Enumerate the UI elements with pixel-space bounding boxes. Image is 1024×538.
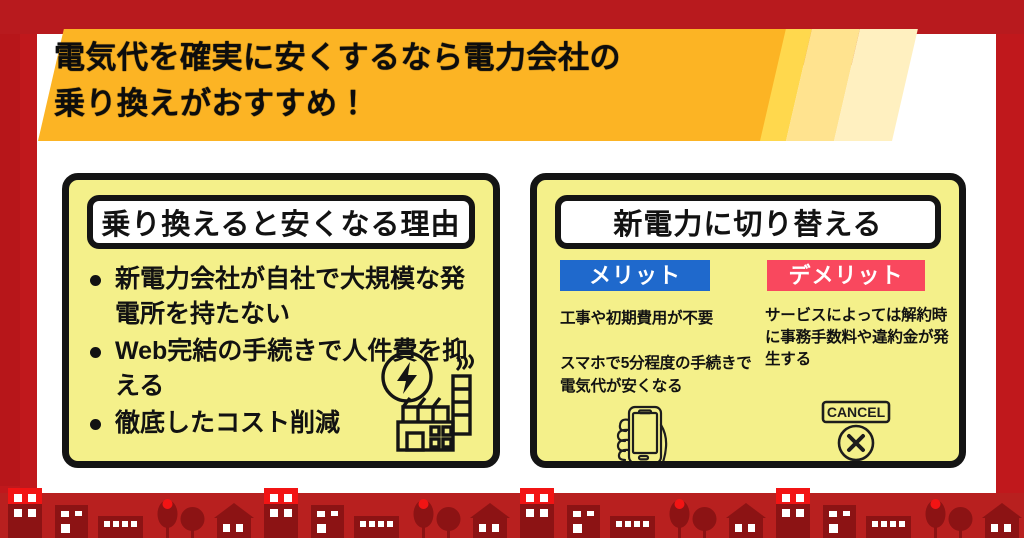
list-item: 新電力会社が自社で大規模な発電所を持たない [115,262,483,332]
cancel-icon: CANCEL [813,400,899,468]
banner-headline-line1: 電気代を確実に安くするなら電力会社の [54,35,754,81]
demerit-text-1: サービスによっては解約時に事務手数料や違約金が発生する [765,305,961,371]
city-unit [768,478,1024,538]
hand-holding-phone-icon [605,403,681,468]
merit-text-2: スマホで5分程度の手続きで電気代が安くなる [560,352,755,398]
header-banner: 電気代を確実に安くするなら電力会社の 乗り換えがおすすめ！ [0,29,1024,141]
card-reasons-title: 乗り換えると安くなる理由 [87,195,475,249]
city-unit [256,478,512,538]
card-switch: 新電力に切り替える メリット 工事や初期費用が不要 スマホで5分程度の手続きで電… [530,173,966,468]
infographic-canvas: 電気代を確実に安くするなら電力会社の 乗り換えがおすすめ！ 乗り換えると安くなる… [0,0,1024,538]
merit-column: メリット 工事や初期費用が不要 スマホで5分程度の手続きで電気代が安くなる [560,260,755,398]
card-reasons: 乗り換えると安くなる理由 新電力会社が自社で大規模な発電所を持たない Web完結… [62,173,500,468]
city-units [0,478,1024,538]
demerit-badge: デメリット [767,260,925,291]
city-unit [512,478,768,538]
merit-badge: メリット [560,260,710,291]
merit-text-1: 工事や初期費用が不要 [560,307,755,330]
demerit-column: デメリット サービスによっては解約時に事務手数料や違約金が発生する CANCEL [765,260,961,371]
cancel-icon-label: CANCEL [827,404,886,420]
banner-headline-line2: 乗り換えがおすすめ！ [54,81,754,127]
card-switch-title: 新電力に切り替える [555,195,941,249]
banner-headline: 電気代を確実に安くするなら電力会社の 乗り換えがおすすめ！ [54,35,754,127]
city-skyline-strip [0,478,1024,538]
city-unit [0,478,256,538]
factory-icon [369,343,481,453]
